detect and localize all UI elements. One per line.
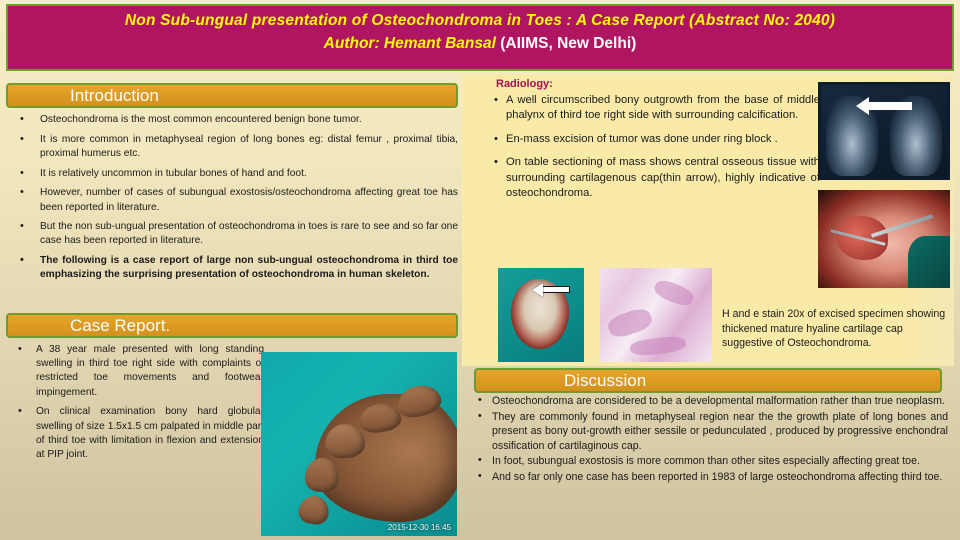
introduction-body: Osteochondroma is the most common encoun… [6,113,458,288]
list-item: But the non sub-ungual presentation of o… [6,220,458,248]
radiology-bullet-list: A well circumscribed bony outgrowth from… [494,93,820,209]
case-report-heading: Case Report. [8,315,456,336]
list-item: En-mass excision of tumor was done under… [494,132,820,147]
discussion-heading: Discussion [476,370,940,391]
list-item: And so far only one case has been report… [474,470,948,485]
arrow-left-icon [868,102,912,110]
radiology-heading: Radiology: [496,78,826,90]
list-item: Osteochondroma is the most common encoun… [6,113,458,127]
section-header-case-report: Case Report. [6,313,458,338]
xray-foot-radiograph [818,82,950,180]
list-item: On table sectioning of mass shows centra… [494,155,820,201]
section-header-discussion: Discussion [474,368,942,393]
surgical-drape [908,236,950,288]
clinical-foot-photo: 2015-12-30 16:45 [261,352,457,536]
photo-timestamp: 2015-12-30 16:45 [388,523,451,532]
cartilage-region [629,335,686,357]
author-name: Author: Hemant Bansal [324,35,501,52]
list-item: They are commonly found in metaphyseal r… [474,410,948,454]
histology-caption: H and e stain 20x of excised specimen sh… [722,307,947,351]
list-item: Osteochondroma are considered to be a de… [474,394,948,409]
case-report-bullet-list: A 38 year male presented with long stand… [6,343,264,462]
introduction-bullet-list: Osteochondroma is the most common encoun… [6,113,458,283]
histology-slide-photo [600,268,712,362]
section-header-introduction: Introduction [6,83,458,108]
discussion-bullet-list: Osteochondroma are considered to be a de… [474,394,948,486]
list-item: It is relatively uncommon in tubular bon… [6,167,458,181]
toe-shape [297,494,331,527]
poster-title: Non Sub-ungual presentation of Osteochon… [8,11,952,30]
list-item: A well circumscribed bony outgrowth from… [494,93,820,124]
cartilage-region [606,306,655,341]
list-item: On clinical examination bony hard globul… [6,405,264,462]
list-item: It is more common in metaphyseal region … [6,133,458,161]
poster-author-line: Author: Hemant Bansal (AIIMS, New Delhi) [8,33,952,55]
cartilage-region [652,277,696,309]
gross-specimen-photo [498,268,584,362]
introduction-heading: Introduction [8,85,456,106]
arrow-left-icon [542,286,570,293]
intraoperative-photo [818,190,950,288]
list-item: The following is a case report of large … [6,254,458,282]
poster-title-banner: Non Sub-ungual presentation of Osteochon… [6,4,954,71]
list-item: However, number of cases of subungual ex… [6,186,458,214]
list-item: In foot, subungual exostosis is more com… [474,454,948,469]
list-item: A 38 year male presented with long stand… [6,343,264,400]
author-affiliation: (AIIMS, New Delhi) [500,35,636,52]
case-report-body: A 38 year male presented with long stand… [6,343,264,468]
